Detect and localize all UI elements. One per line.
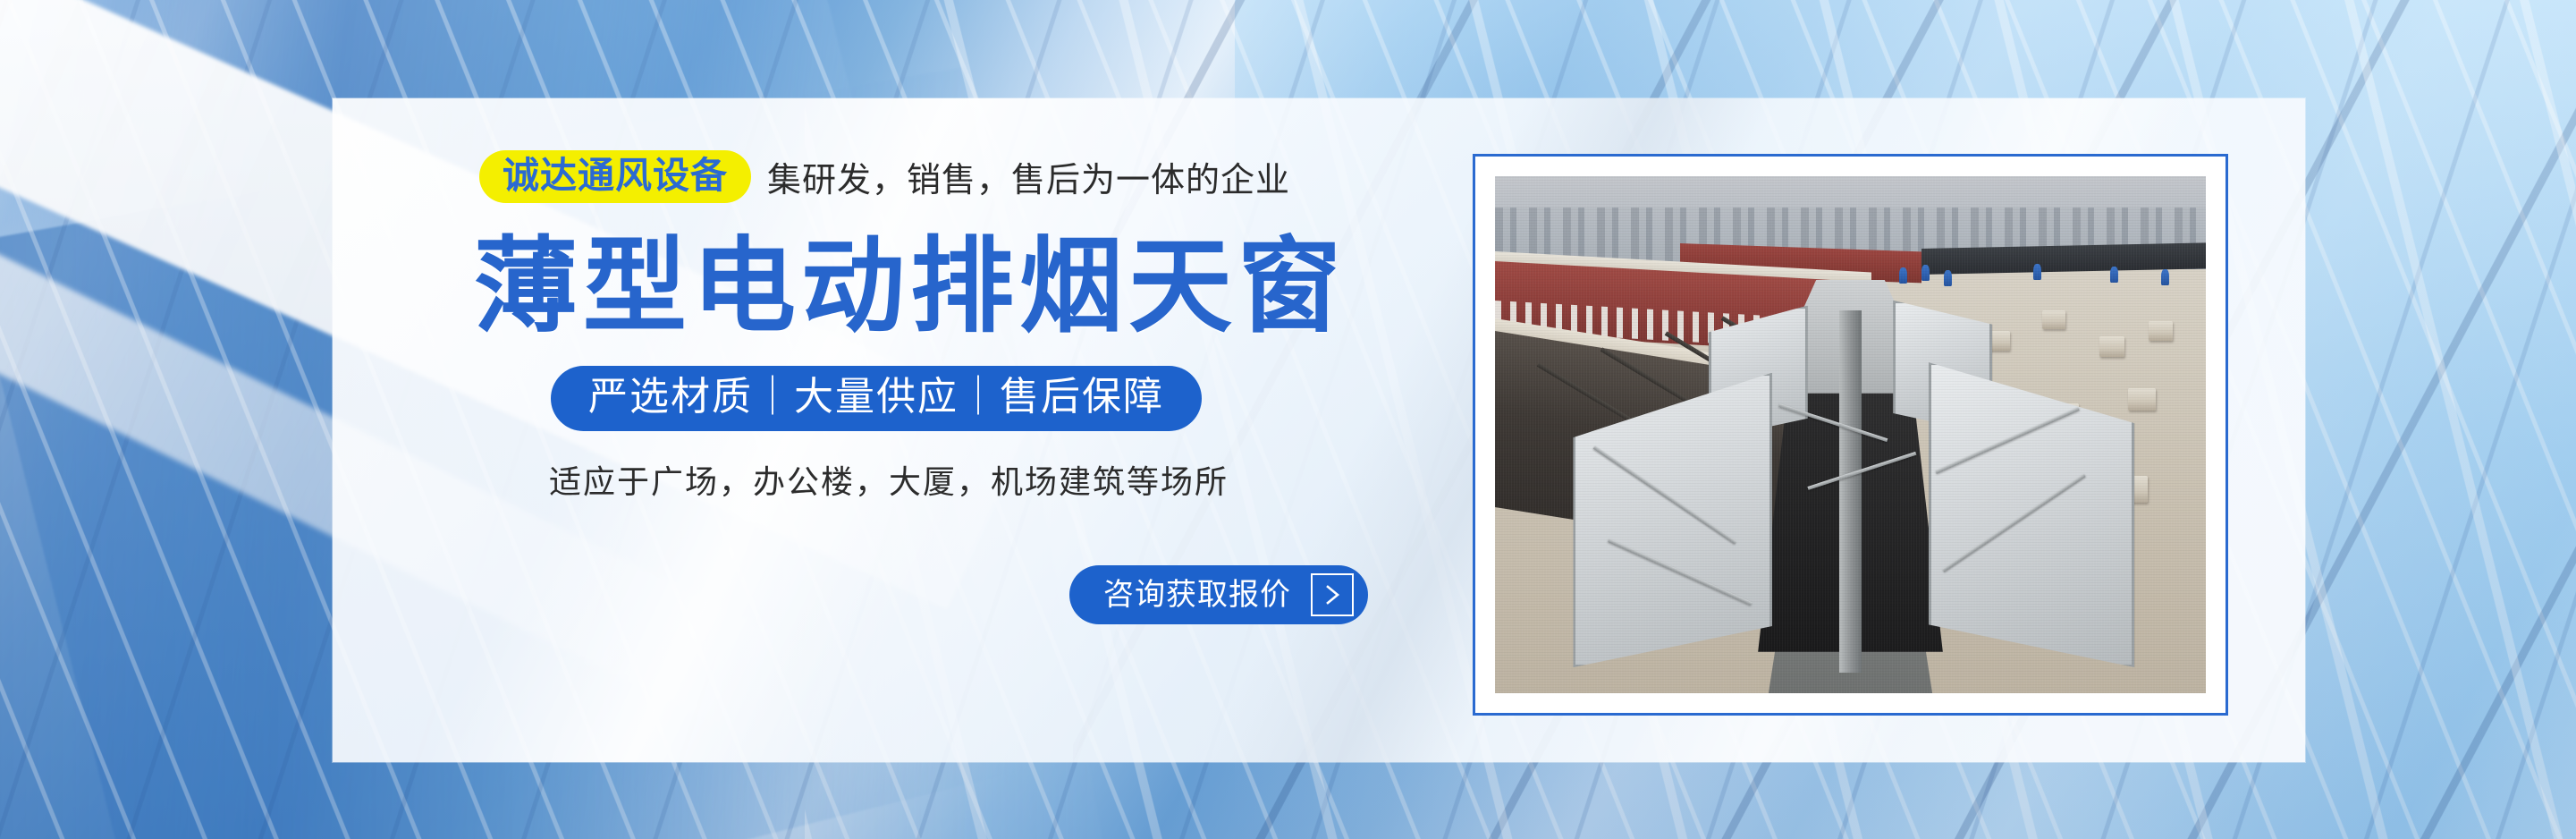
photo-concrete-block — [2042, 310, 2065, 329]
promo-banner: 诚达通风设备 集研发，销售，售后为一体的企业 薄型电动排烟天窗 严选材质｜大量供… — [0, 0, 2576, 839]
tagline-text: 集研发，销售，售后为一体的企业 — [767, 152, 1290, 201]
quote-request-button[interactable]: 咨询获取报价 — [1069, 565, 1368, 624]
feature-highlights-bar: 严选材质｜大量供应｜售后保障 — [551, 366, 1202, 431]
subtitle-text: 适应于广场，办公楼，大厦，机场建筑等场所 — [549, 456, 1463, 503]
page-title: 薄型电动排烟天窗 — [474, 231, 1463, 343]
photo-roof-vent — [1921, 265, 1930, 281]
photo-roof-vent-group — [1886, 254, 2206, 301]
photo-skylight-spine-beam — [1839, 310, 1862, 673]
photo-roof-vent — [1944, 270, 1952, 286]
brand-badge: 诚达通风设备 — [479, 150, 751, 203]
photo-concrete-block — [2099, 336, 2125, 357]
photo-concrete-block — [2128, 388, 2157, 411]
photo-roof-vent — [1899, 267, 1907, 284]
cta-row: 咨询获取报价 — [1069, 565, 1463, 624]
quote-request-label: 咨询获取报价 — [1103, 580, 1291, 610]
chevron-right-icon — [1311, 573, 1354, 616]
product-photo — [1495, 176, 2206, 693]
photo-roof-vent — [2110, 267, 2118, 283]
photo-concrete-block — [2149, 321, 2173, 341]
product-photo-frame — [1473, 154, 2228, 716]
photo-roof-vent — [2033, 264, 2041, 280]
text-column: 诚达通风设备 集研发，销售，售后为一体的企业 薄型电动排烟天窗 严选材质｜大量供… — [408, 145, 1463, 624]
tagline-row: 诚达通风设备 集研发，销售，售后为一体的企业 — [479, 145, 1463, 208]
photo-roof-vent — [2161, 269, 2169, 285]
